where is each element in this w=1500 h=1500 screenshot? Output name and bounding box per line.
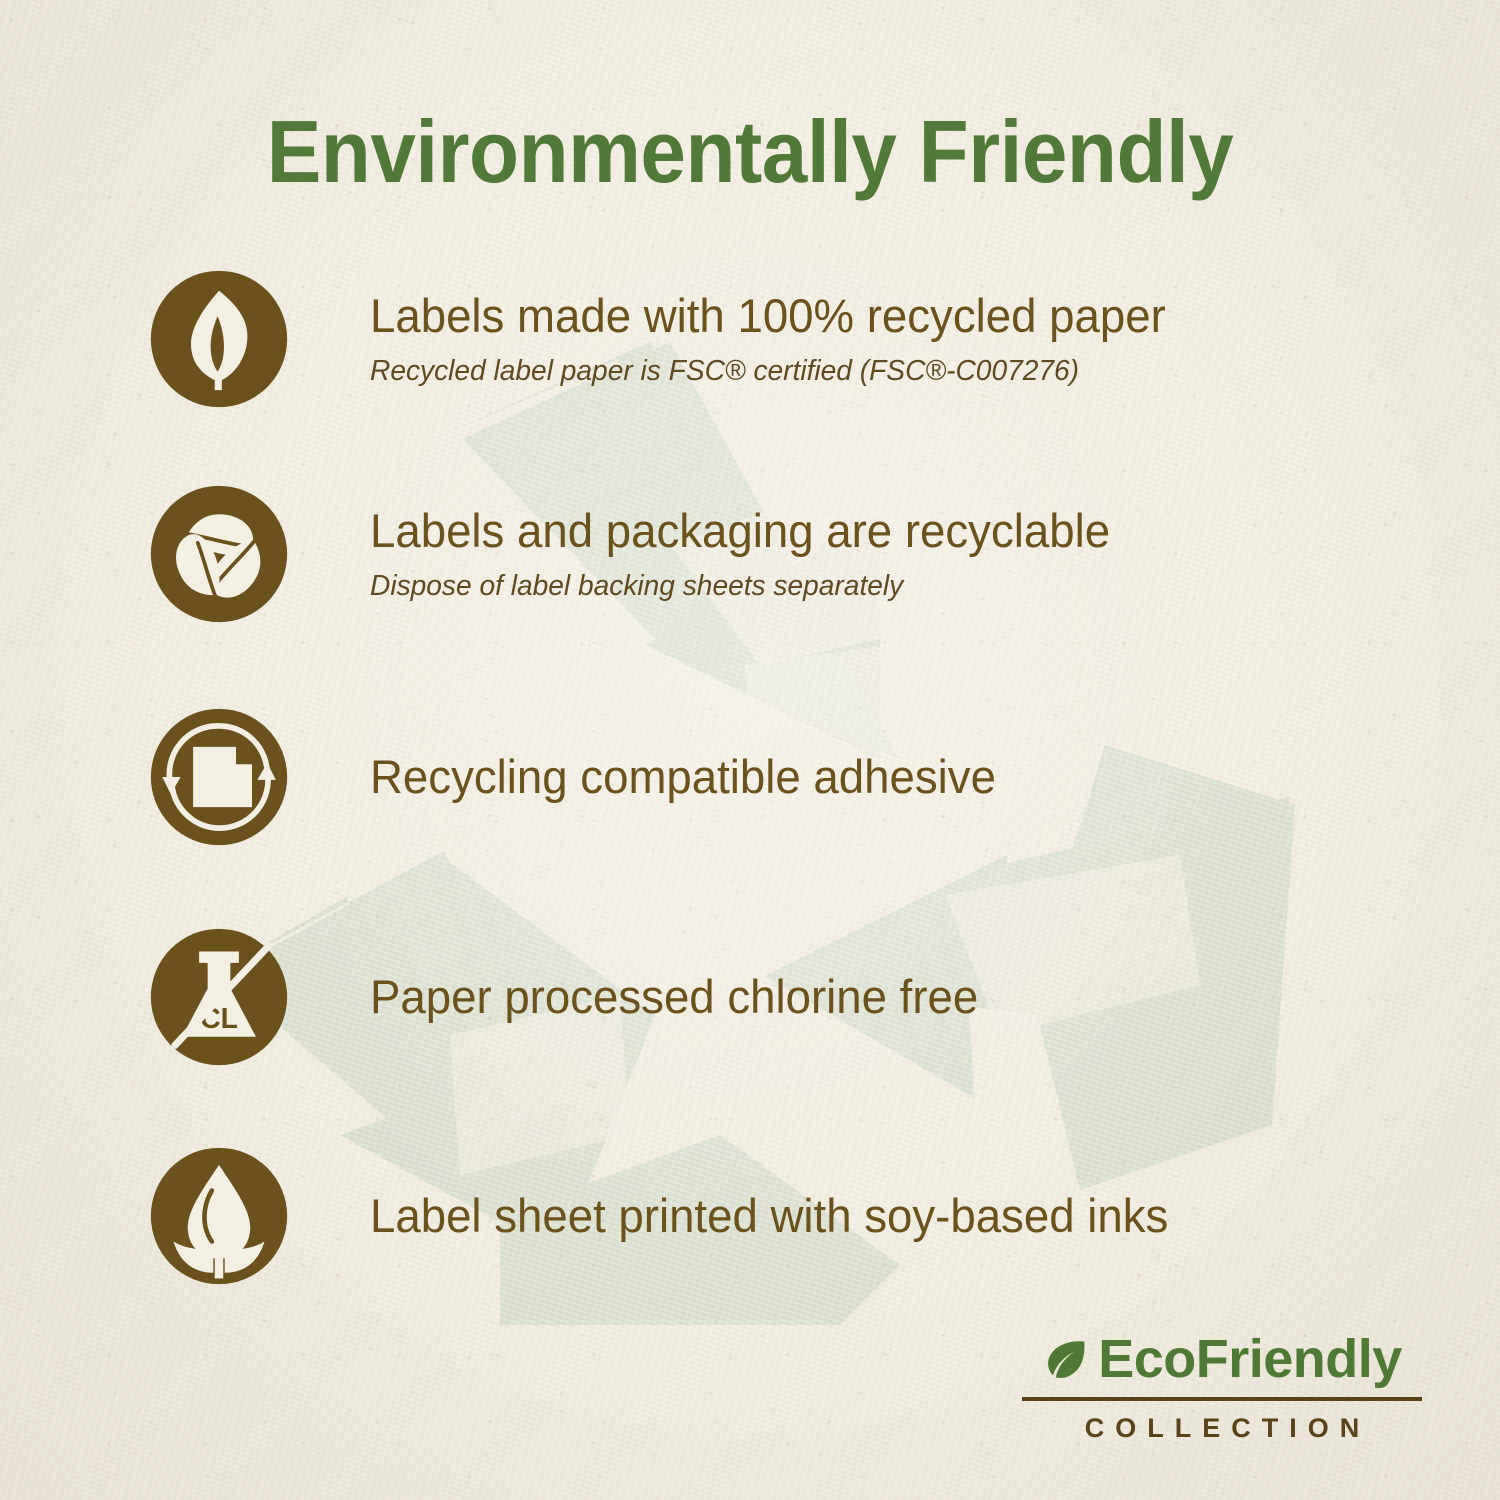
feature-heading: Label sheet printed with soy-based inks [370, 1190, 1168, 1243]
feature-row: Label sheet printed with soy-based inks [148, 1145, 1193, 1287]
brand-name-row: EcoFriendly [1022, 1332, 1422, 1386]
feature-subtext: Recycled label paper is FSC® certified (… [370, 355, 1166, 388]
feature-row: Labels and packaging are recyclable Disp… [148, 483, 1133, 625]
no-chlorine-flask-icon: CL [148, 926, 290, 1068]
page-title: Environmentally Friendly [53, 105, 1448, 198]
document-recycle-arrows-icon [148, 706, 290, 848]
feature-heading: Labels and packaging are recyclable [370, 505, 1110, 558]
feature-row: CL Paper processed chlorine free [148, 926, 997, 1068]
brand-logo: EcoFriendly COLLECTION [1022, 1332, 1422, 1442]
recycle-leaves-icon [148, 483, 290, 625]
feature-text: Label sheet printed with soy-based inks [370, 1190, 1193, 1243]
leaf-icon [148, 268, 290, 410]
feature-row: Labels made with 100% recycled paper Rec… [148, 268, 1190, 410]
brand-tagline: COLLECTION [1022, 1415, 1422, 1442]
feature-text: Labels made with 100% recycled paper Rec… [370, 290, 1190, 388]
feature-text: Labels and packaging are recyclable Disp… [370, 505, 1133, 603]
leaf-icon [1042, 1336, 1088, 1382]
brand-divider [1022, 1397, 1422, 1401]
feature-heading: Labels made with 100% recycled paper [370, 290, 1166, 343]
feature-text: Recycling compatible adhesive [370, 751, 1015, 804]
feature-text: Paper processed chlorine free [370, 971, 997, 1024]
feature-row: Recycling compatible adhesive [148, 706, 1015, 848]
feature-subtext: Dispose of label backing sheets separate… [370, 570, 1110, 603]
feature-heading: Paper processed chlorine free [370, 971, 978, 1024]
feature-heading: Recycling compatible adhesive [370, 751, 996, 804]
soy-droplet-sprout-icon [148, 1145, 290, 1287]
poster-canvas: Environmentally Friendly Labels made wit… [0, 0, 1500, 1500]
brand-name: EcoFriendly [1098, 1332, 1402, 1386]
